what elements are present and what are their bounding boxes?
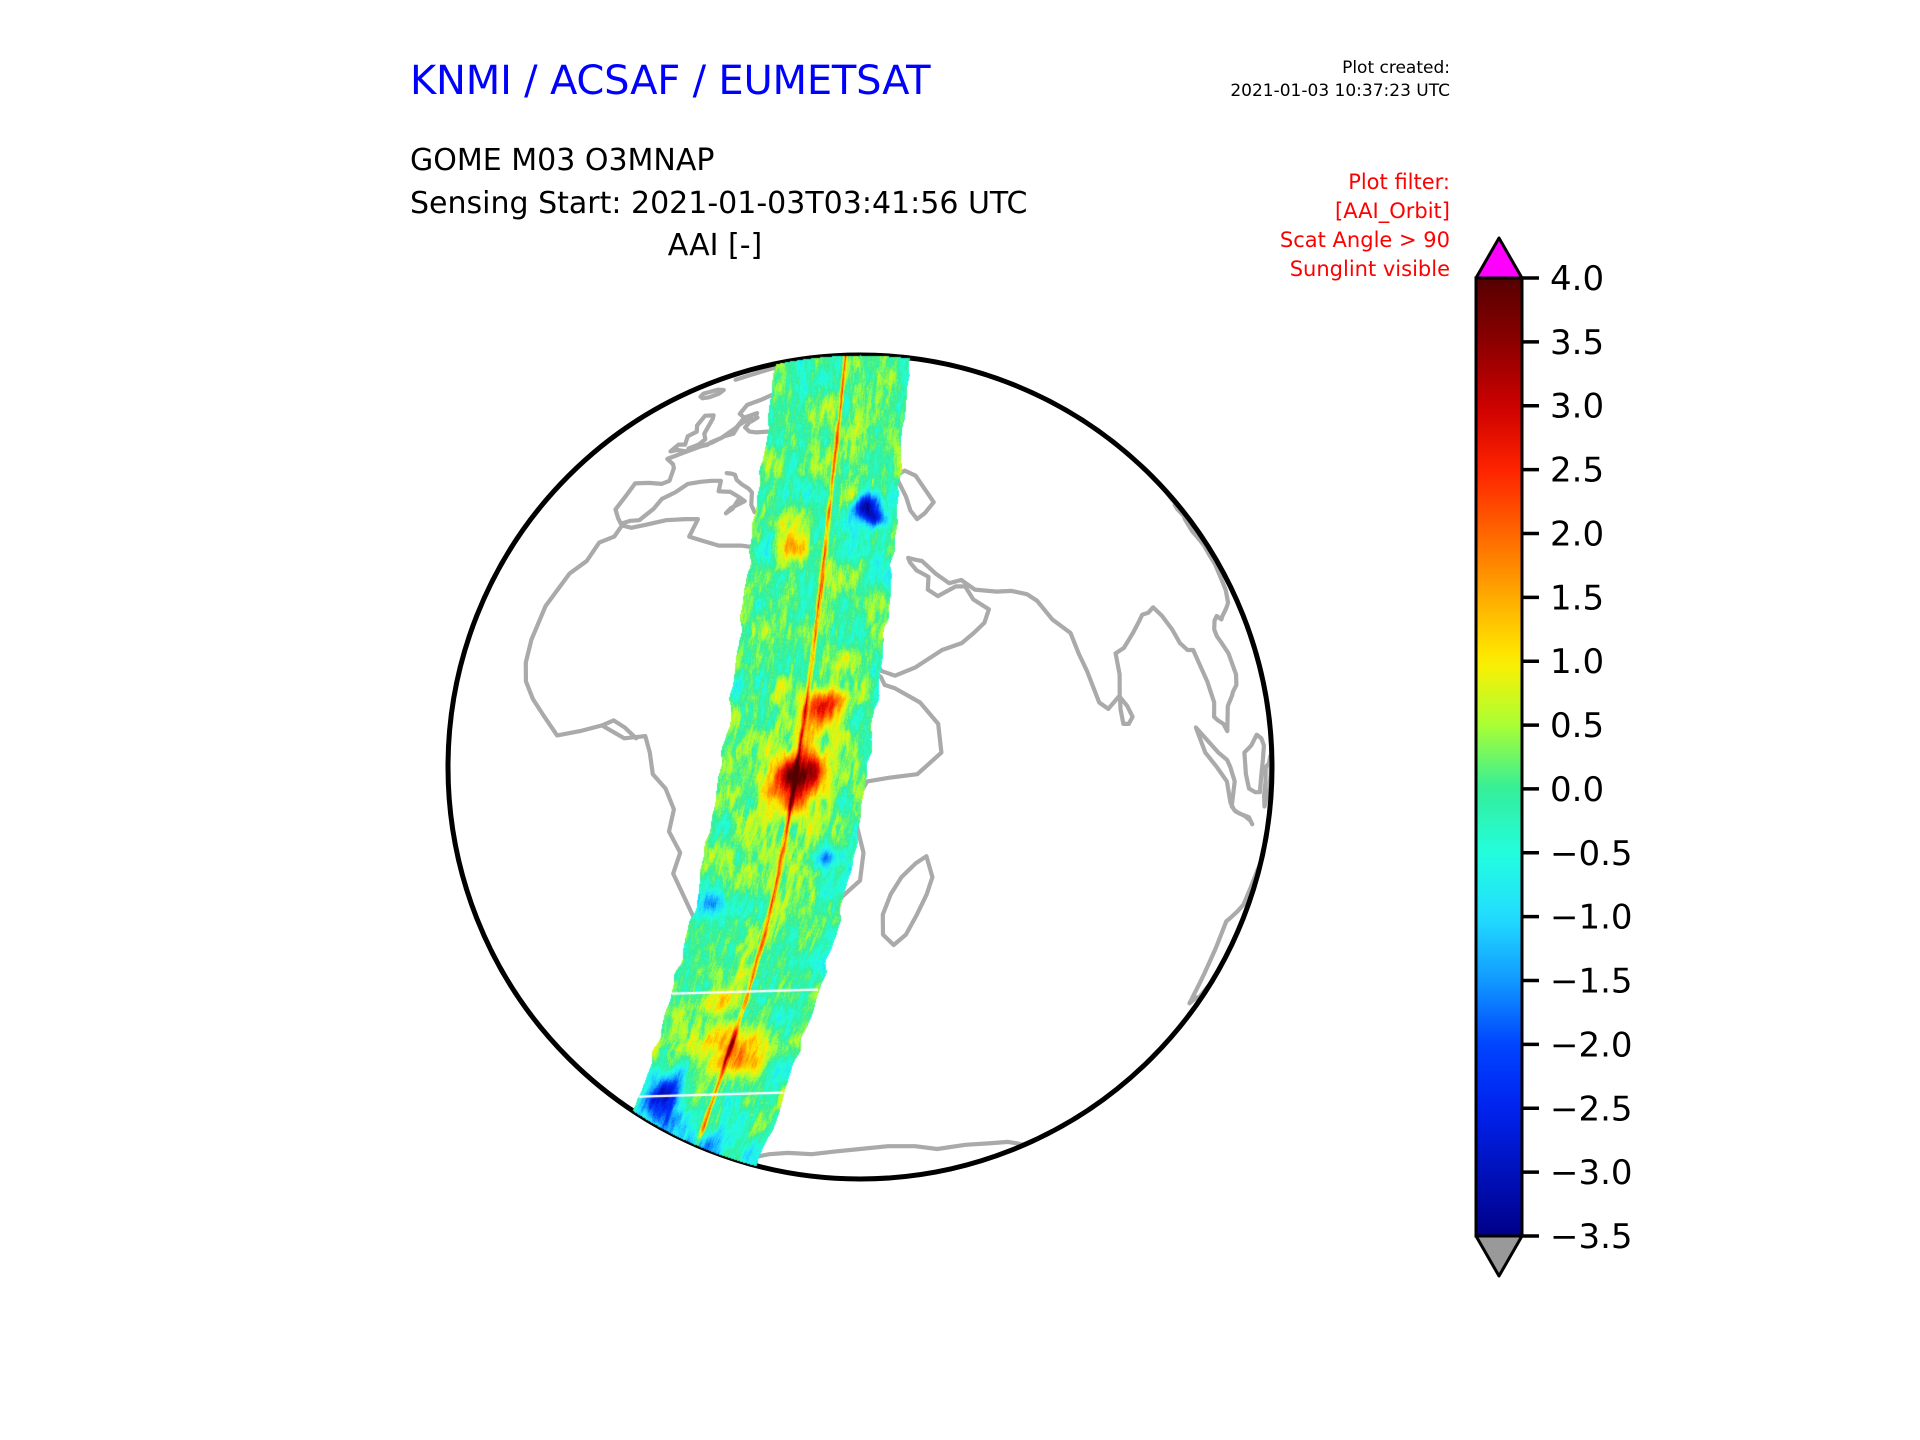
- figure-canvas: KNMI / ACSAF / EUMETSAT Plot created: 20…: [0, 0, 1920, 1440]
- colorbar-under-arrow: [1476, 1236, 1522, 1276]
- colorbar-tick-label: 3.0: [1550, 387, 1604, 427]
- colorbar-ticks: [1522, 278, 1539, 1236]
- colorbar-tick-label: −2.0: [1550, 1025, 1633, 1065]
- colorbar-tick-label: 2.0: [1550, 514, 1604, 554]
- colorbar-tick-label: 0.5: [1550, 706, 1604, 746]
- colorbar-tick-label: 1.0: [1550, 642, 1604, 682]
- plot-created-timestamp: 2021-01-03 10:37:23 UTC: [1230, 80, 1450, 103]
- globe-disc: [448, 355, 1272, 1179]
- organisation-title: KNMI / ACSAF / EUMETSAT: [410, 58, 930, 104]
- colorbar-tick-label: −3.5: [1550, 1217, 1633, 1257]
- colorbar-tick-label: 3.5: [1550, 323, 1604, 363]
- colorbar-tick-label: 1.5: [1550, 578, 1604, 618]
- sensing-start: Sensing Start: 2021-01-03T03:41:56 UTC: [410, 183, 1027, 226]
- product-name: GOME M03 O3MNAP: [410, 140, 1027, 183]
- colorbar-tick-label: −0.5: [1550, 834, 1633, 874]
- colorbar-over-arrow: [1476, 238, 1522, 278]
- plot-filter-label: Plot filter:: [1280, 168, 1450, 197]
- colorbar-tick-label: −1.0: [1550, 898, 1633, 938]
- globe-map: [330, 232, 1390, 1302]
- colorbar-tick-label: −1.5: [1550, 962, 1633, 1002]
- plot-filter-line-0: [AAI_Orbit]: [1280, 197, 1450, 226]
- product-info-block: GOME M03 O3MNAP Sensing Start: 2021-01-0…: [410, 140, 1027, 225]
- colorbar-tick-label: −2.5: [1550, 1089, 1633, 1129]
- coastline-path: [819, 362, 834, 366]
- plot-created-block: Plot created: 2021-01-03 10:37:23 UTC: [1230, 57, 1450, 103]
- colorbar-svg: 4.03.53.02.52.01.51.00.50.0−0.5−1.0−1.5−…: [1430, 232, 1790, 1302]
- colorbar-tick-label: 4.0: [1550, 259, 1604, 299]
- colorbar-tick-label: 0.0: [1550, 770, 1604, 810]
- map-plot-area: [330, 232, 1390, 1302]
- colorbar-gradient: [1476, 278, 1522, 1236]
- plot-created-label: Plot created:: [1230, 57, 1450, 80]
- colorbar-tick-label: 2.5: [1550, 451, 1604, 491]
- colorbar-tick-labels: 4.03.53.02.52.01.51.00.50.0−0.5−1.0−1.5−…: [1550, 259, 1633, 1257]
- colorbar-tick-label: −3.0: [1550, 1153, 1633, 1193]
- colorbar: 4.03.53.02.52.01.51.00.50.0−0.5−1.0−1.5−…: [1430, 232, 1790, 1302]
